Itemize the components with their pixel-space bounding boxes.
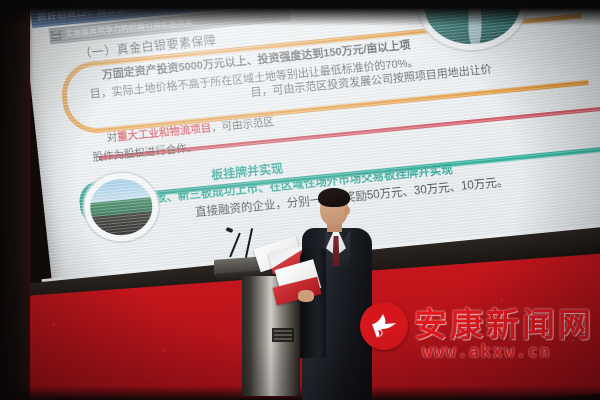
speaker-hand: [298, 290, 314, 302]
left-dark-wall: [0, 0, 30, 400]
speaker-ear: [344, 206, 350, 215]
watermark-site-name: 安康新闻网: [414, 298, 594, 346]
podium-nameplate: [272, 328, 294, 342]
photo-scene: 抓好招商口，建立源头 二 实施最具竞争力的招商引资优惠政策 （一）真金白银要素保…: [0, 0, 600, 400]
photo-b-foreground: [91, 211, 155, 238]
watermark-logo-circle: [360, 302, 408, 350]
slide-photo-mountain: [87, 176, 155, 238]
red-2-suffix: ，可由示范区: [211, 116, 275, 134]
watermark: 安康新闻网 www.akxw.cn: [360, 298, 596, 372]
top-dark-band: [0, 0, 600, 26]
section-number: 二: [51, 30, 62, 41]
bird-icon: [369, 312, 399, 340]
watermark-url: www.akxw.cn: [422, 342, 551, 362]
speaker-hair: [318, 188, 350, 207]
